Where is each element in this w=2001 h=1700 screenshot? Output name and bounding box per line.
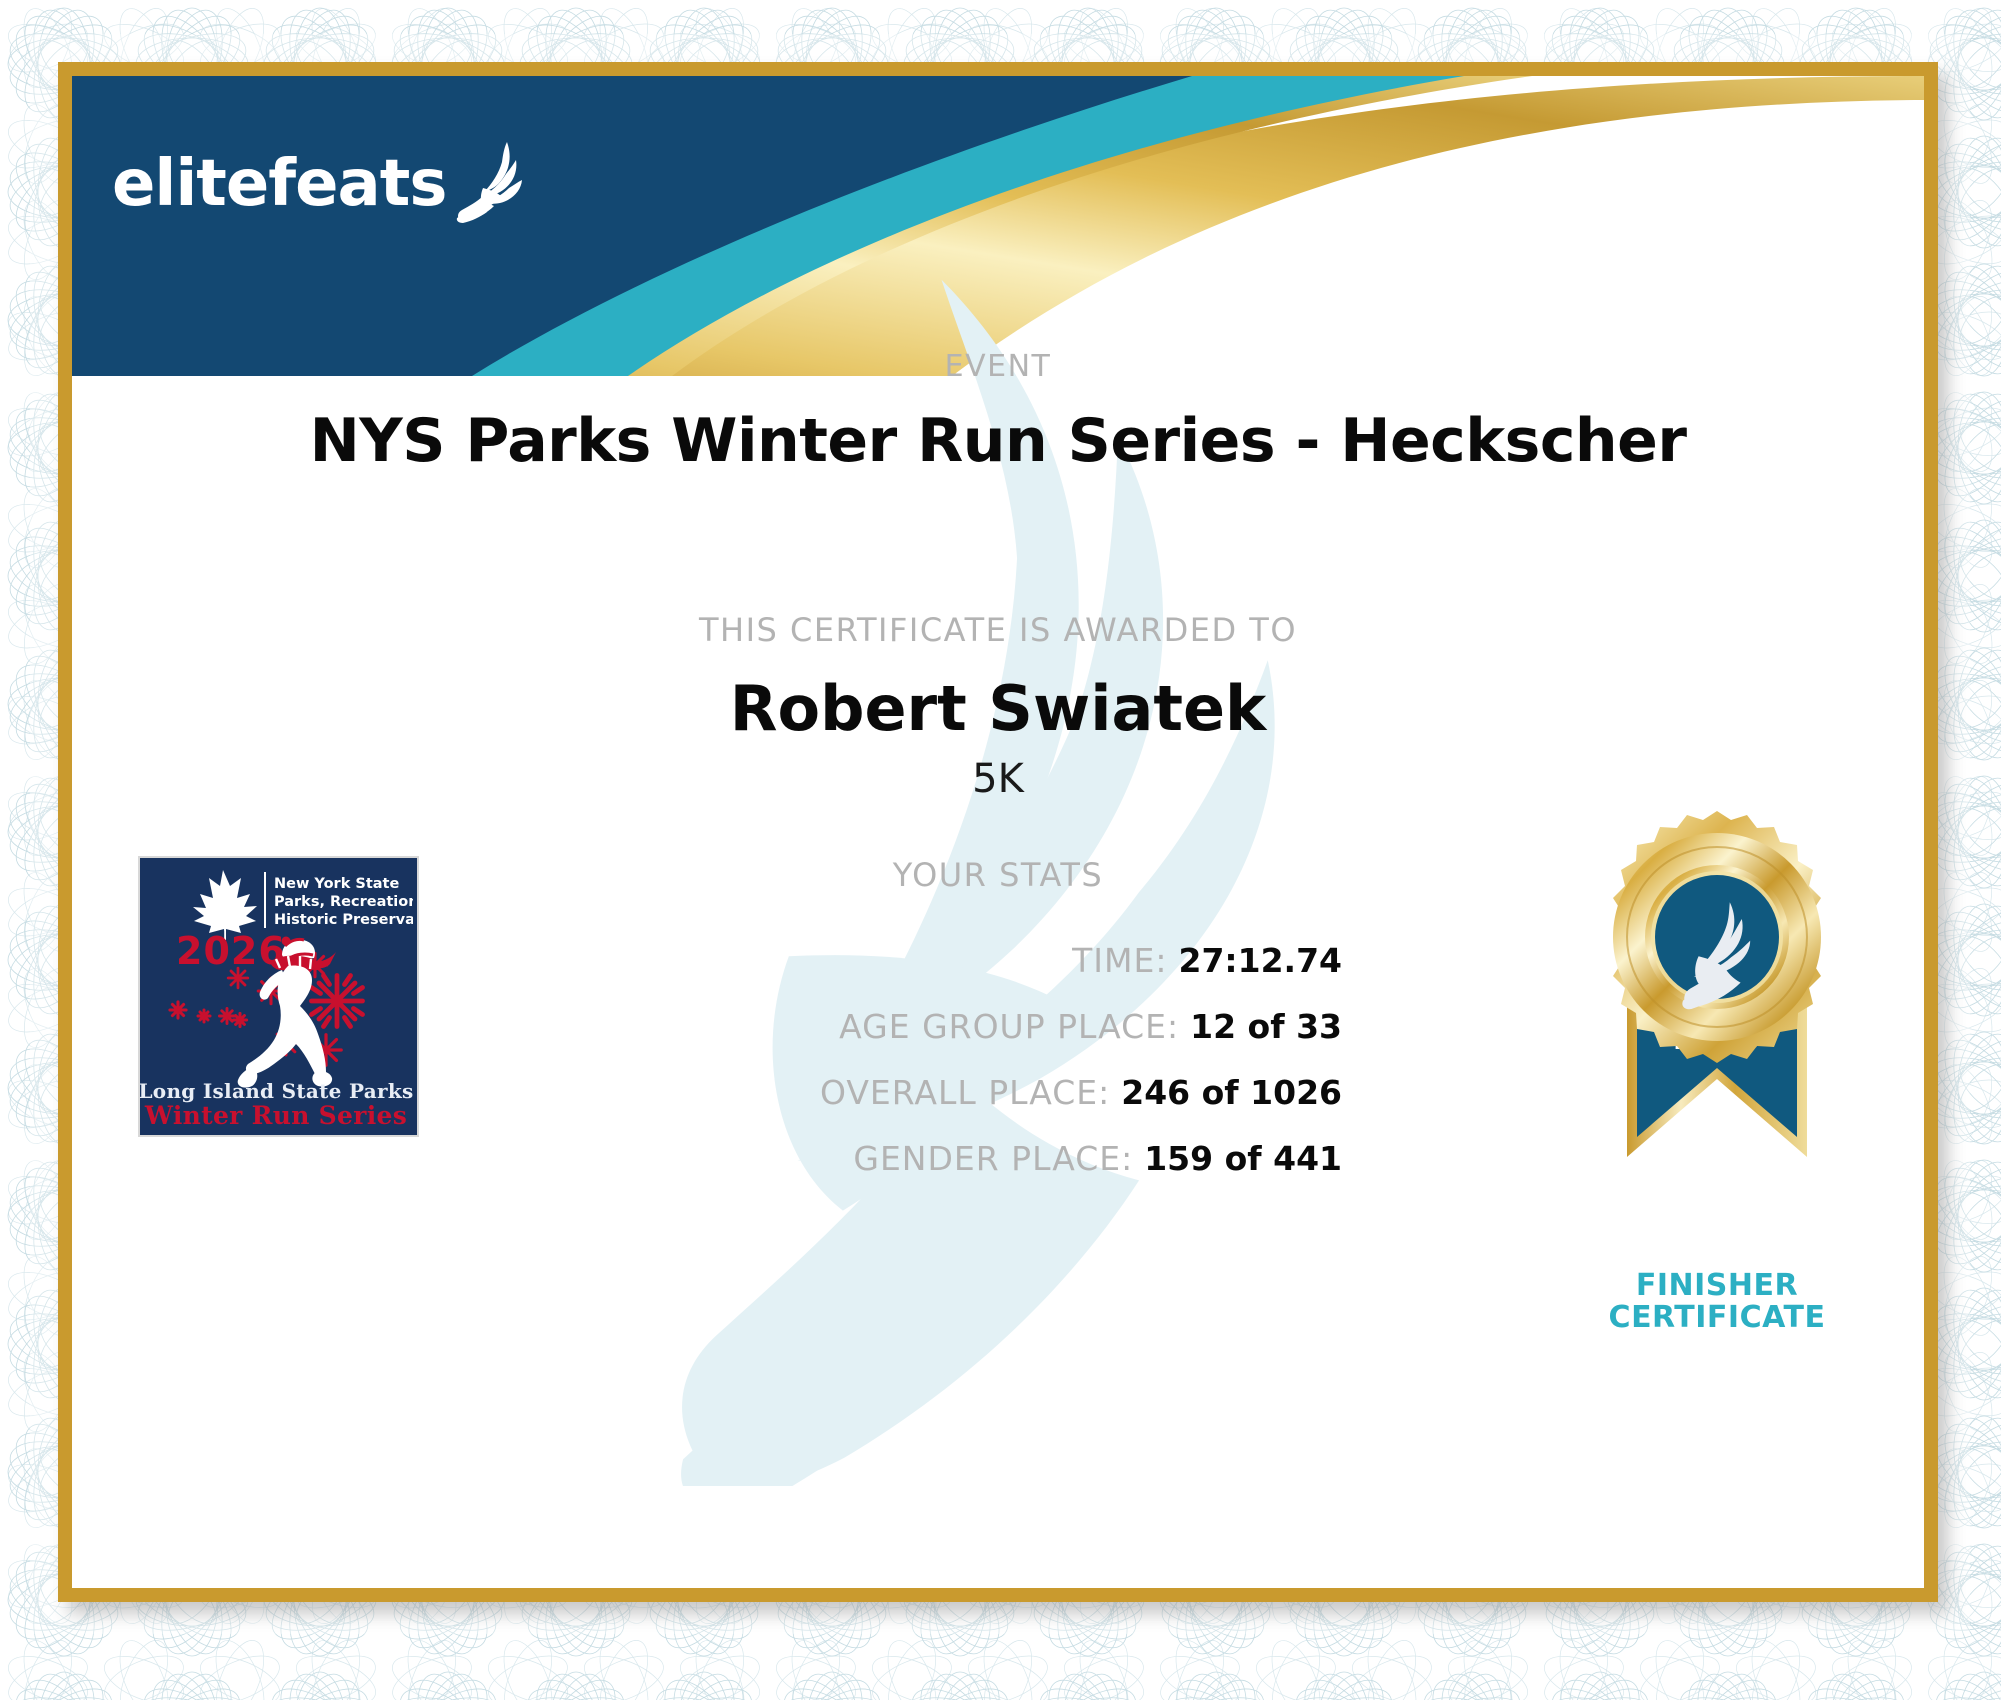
event-label: EVENT	[72, 349, 1924, 384]
brand-wordmark: elitefeats	[112, 152, 446, 216]
stat-value: 159 of 441	[1144, 1139, 1342, 1178]
event-logo-title-bottom: Winter Run Series	[144, 1101, 407, 1130]
medal-caption-line-2: CERTIFICATE	[1552, 1302, 1882, 1334]
awarded-to-label: THIS CERTIFICATE IS AWARDED TO	[72, 611, 1924, 649]
medal-caption-line-1: FINISHER	[1552, 1270, 1882, 1302]
stat-key: OVERALL PLACE:	[820, 1073, 1110, 1112]
winged-foot-icon	[452, 140, 526, 229]
event-logo-year: 2026	[176, 929, 286, 973]
certificate-content: EVENT NYS Parks Winter Run Series - Heck…	[72, 76, 1924, 1588]
finisher-medal: 2026	[1552, 811, 1882, 1335]
stat-value: 246 of 1026	[1121, 1073, 1342, 1112]
stat-key: AGE GROUP PLACE:	[839, 1007, 1179, 1046]
certificate-frame: elitefeats	[58, 62, 1938, 1602]
medal-caption: FINISHER CERTIFICATE	[1552, 1270, 1882, 1335]
stat-key: GENDER PLACE:	[853, 1139, 1133, 1178]
elitefeats-logo: elitefeats	[112, 138, 526, 229]
race-distance: 5K	[72, 756, 1924, 802]
recipient-name: Robert Swiatek	[72, 672, 1924, 745]
agency-line-2: Parks, Recreation and	[274, 894, 413, 910]
stat-row-age-group-place: AGE GROUP PLACE: 12 of 33	[402, 1007, 1342, 1046]
stat-key: TIME:	[1072, 941, 1167, 980]
stat-row-time: TIME: 27:12.74	[402, 941, 1342, 980]
certificate-inner: elitefeats	[72, 76, 1924, 1588]
event-logo-title-top: Long Island State Parks	[140, 1079, 413, 1103]
event-title: NYS Parks Winter Run Series - Heckscher	[72, 406, 1924, 476]
stat-value: 12 of 33	[1190, 1007, 1342, 1046]
event-logo: New York State Parks, Recreation and His…	[138, 856, 419, 1137]
gold-rosette-icon: 2026	[1552, 811, 1882, 1261]
agency-line-1: New York State	[274, 876, 399, 892]
agency-line-3: Historic Preservation	[274, 912, 413, 928]
stat-row-overall-place: OVERALL PLACE: 246 of 1026	[402, 1073, 1342, 1112]
stat-row-gender-place: GENDER PLACE: 159 of 441	[402, 1139, 1342, 1178]
stat-value: 27:12.74	[1178, 941, 1342, 980]
stats-list: TIME: 27:12.74 AGE GROUP PLACE: 12 of 33…	[402, 941, 1342, 1205]
